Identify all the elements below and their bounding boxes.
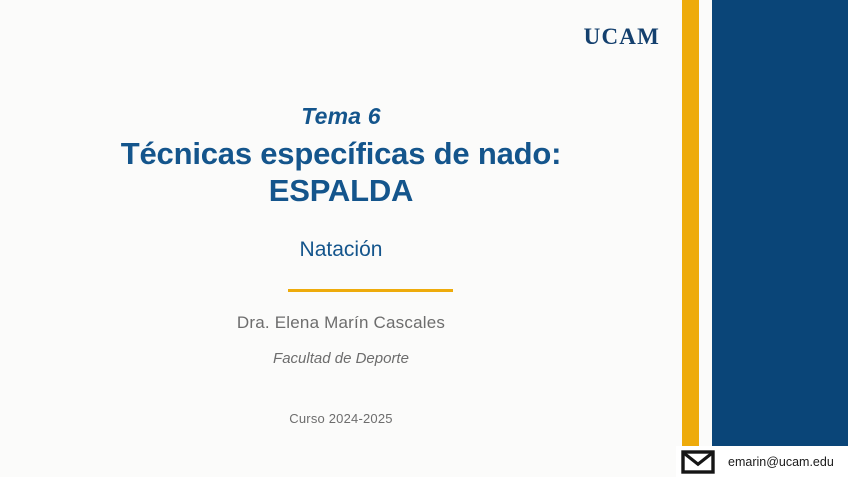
- page-title: Técnicas específicas de nado: ESPALDA: [0, 136, 682, 209]
- envelope-icon: [681, 450, 715, 474]
- page-title-line-1: Técnicas específicas de nado:: [0, 136, 682, 173]
- navy-side-panel: [712, 0, 848, 446]
- contact-email[interactable]: emarin@ucam.edu: [728, 455, 834, 469]
- contact-footer: emarin@ucam.edu: [676, 446, 848, 477]
- subject-subtitle: Natación: [0, 238, 682, 262]
- topic-label: Tema 6: [0, 103, 682, 130]
- title-content-block: Tema 6 Técnicas específicas de nado: ESP…: [0, 0, 682, 446]
- author-name: Dra. Elena Marín Cascales: [0, 313, 682, 333]
- gold-accent-bar: [682, 0, 699, 446]
- divider-rule: [288, 289, 453, 292]
- page-title-line-2: ESPALDA: [0, 173, 682, 210]
- academic-year: Curso 2024-2025: [0, 411, 682, 426]
- slide-title-page: UCAM Tema 6 Técnicas específicas de nado…: [0, 0, 848, 477]
- faculty-name: Facultad de Deporte: [0, 350, 682, 367]
